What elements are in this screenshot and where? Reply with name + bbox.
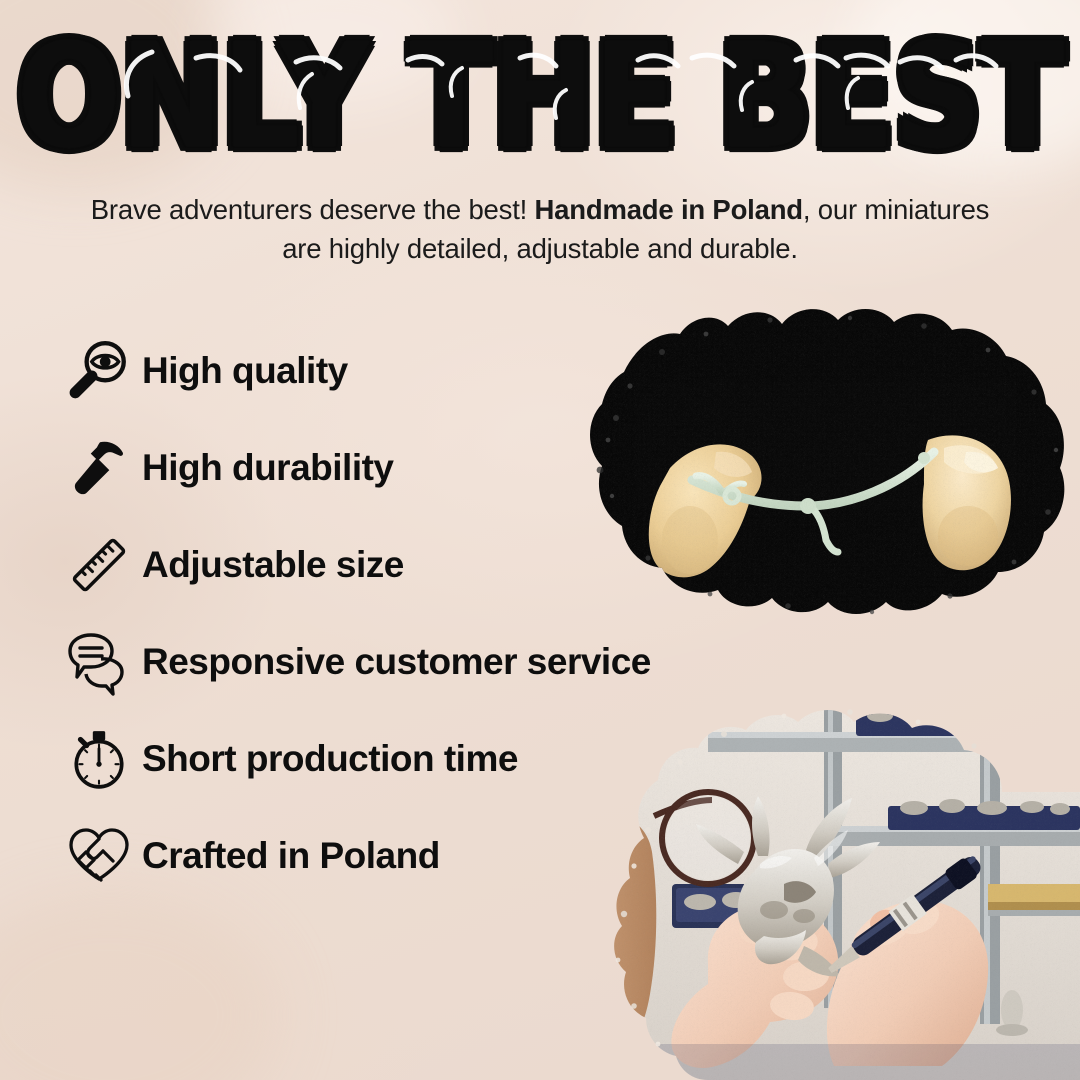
promo-poster: ONLY THE BEST Brave adventurers deserve … [0, 0, 1080, 1080]
speech-bubbles-icon [60, 628, 138, 696]
headline-text: ONLY THE BEST [17, 23, 1064, 170]
ruler-icon [60, 532, 138, 598]
background-blob [0, 890, 280, 1080]
feature-label: Short production time [142, 738, 518, 780]
workshop-painting-photo [588, 688, 1080, 1080]
headline: ONLY THE BEST [0, 36, 1080, 156]
feature-label: Responsive customer service [142, 641, 651, 683]
subheading: Brave adventurers deserve the best! Hand… [90, 190, 990, 268]
magnifier-eye-icon [60, 338, 138, 404]
subheading-bold: Handmade in Poland [535, 194, 803, 225]
feature-label: High quality [142, 350, 348, 392]
stopwatch-icon [60, 726, 138, 792]
hammer-icon [60, 435, 138, 501]
subheading-lead: Brave adventurers deserve the best! [91, 194, 535, 225]
feature-label: Adjustable size [142, 544, 404, 586]
flexible-miniature-photo [520, 300, 1076, 630]
feature-label: Crafted in Poland [142, 835, 440, 877]
feature-label: High durability [142, 447, 394, 489]
heart-handshake-icon [60, 822, 138, 890]
